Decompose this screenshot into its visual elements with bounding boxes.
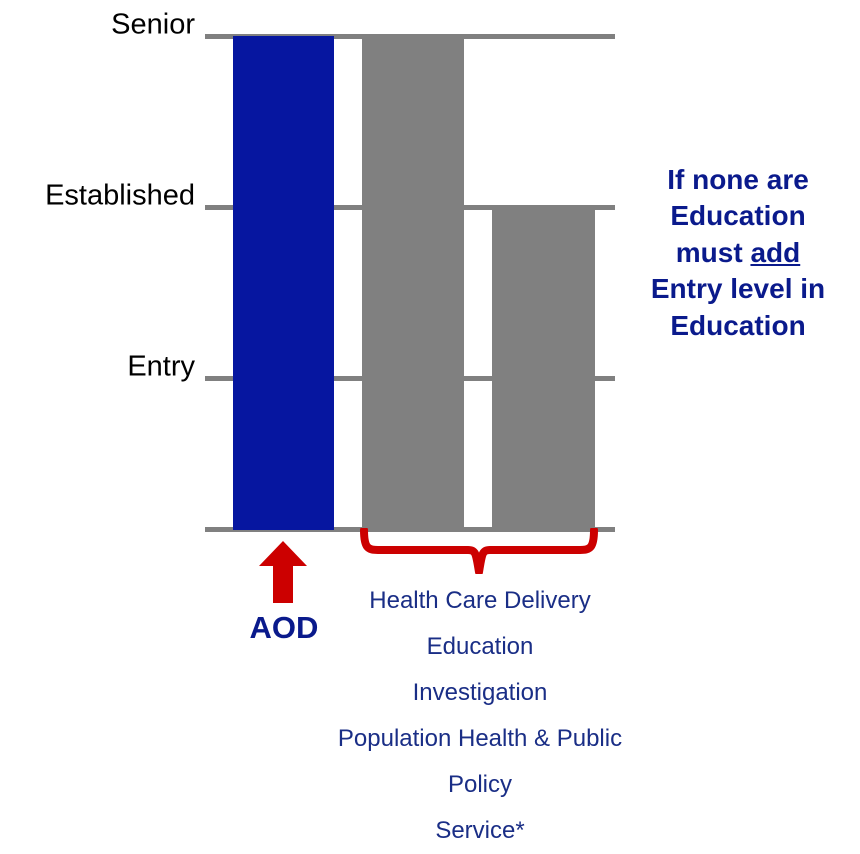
domain-list-item: Health Care Delivery [330, 578, 630, 624]
domain-list-item: Investigation [330, 670, 630, 716]
note-line-with-emphasis: must add [616, 235, 860, 271]
domain-list-item: Education [330, 624, 630, 670]
research-level-chart: Senior Established Entry AOD Health Care… [0, 0, 860, 836]
note-line: Education [616, 308, 860, 344]
axis-label-established: Established [45, 182, 195, 211]
bar-domain-group-1 [362, 36, 464, 530]
note-line: Education [616, 198, 860, 234]
note-emphasis-word: add [750, 237, 800, 268]
axis-label-senior: Senior [111, 11, 195, 40]
axis-label-entry: Entry [127, 353, 195, 382]
bar-aod [233, 36, 334, 530]
note-line: If none are [616, 162, 860, 198]
bar-domain-group-2 [492, 207, 595, 530]
up-arrow-icon [259, 541, 307, 603]
note-line: Entry level in [616, 271, 860, 307]
note-annotation: If none are Education must add Entry lev… [616, 162, 860, 344]
note-line-prefix: must [676, 237, 751, 268]
domain-list: Health Care Delivery Education Investiga… [330, 578, 630, 854]
domain-list-item: Population Health & Public Policy [330, 716, 630, 808]
domain-list-item: Service* [330, 808, 630, 854]
curly-brace-icon [352, 528, 606, 574]
